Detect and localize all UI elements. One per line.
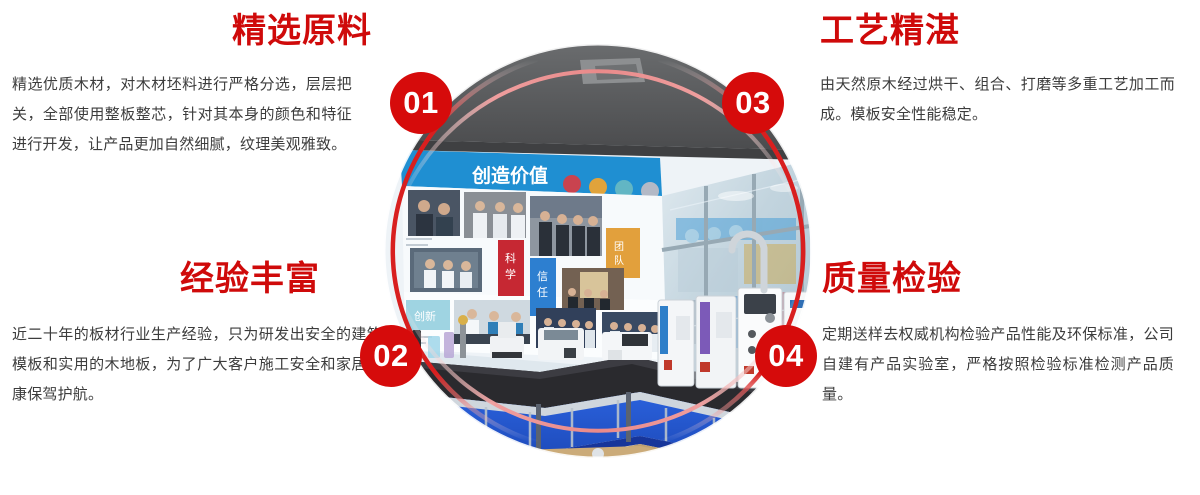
step-badge-03: 03 — [722, 72, 784, 134]
feature-body-03: 由天然原木经过烘干、组合、打磨等多重工艺加工而成。模板安全性能稳定。 — [820, 70, 1175, 130]
feature-block-01: 精选原料 精选优质木材，对木材坯料进行严格分选，层层把关，全部使用整板整芯，针对… — [12, 14, 372, 160]
step-badge-04: 04 — [755, 325, 817, 387]
feature-block-03: 工艺精湛 由天然原木经过烘干、组合、打磨等多重工艺加工而成。模板安全性能稳定。 — [820, 14, 1180, 130]
wall-tile-tuandui: 团 — [614, 241, 624, 253]
wall-tile-kexue: 科 — [505, 251, 516, 265]
wall-tile-chuangxin: 创新 — [414, 309, 436, 323]
feature-block-02: 经验丰富 近二十年的板材行业生产经验，只为研发出安全的建筑模板和实用的木地板，为… — [12, 262, 372, 410]
feature-title-03: 工艺精湛 — [820, 14, 1180, 48]
svg-text:任: 任 — [537, 286, 548, 299]
step-badge-02: 02 — [360, 325, 422, 387]
svg-text:学: 学 — [505, 267, 516, 281]
wall-banner-text: 创造价值 — [471, 164, 548, 187]
feature-body-02: 近二十年的板材行业生产经验，只为研发出安全的建筑模板和实用的木地板，为了广大客户… — [12, 320, 382, 410]
feature-block-04: 质量检验 定期送样去权威机构检验产品性能及环保标准，公司自建有产品实验室，严格按… — [822, 262, 1182, 410]
svg-text:队: 队 — [614, 254, 624, 267]
feature-title-04: 质量检验 — [822, 262, 1182, 296]
feature-body-04: 定期送样去权威机构检验产品性能及环保标准，公司自建有产品实验室，严格按照检验标准… — [822, 320, 1174, 410]
feature-body-01: 精选优质木材，对木材坯料进行严格分选，层层把关，全部使用整板整芯，针对其本身的颜… — [12, 70, 352, 160]
step-badge-01: 01 — [390, 72, 452, 134]
wall-tile-xinren: 信 — [537, 270, 548, 283]
